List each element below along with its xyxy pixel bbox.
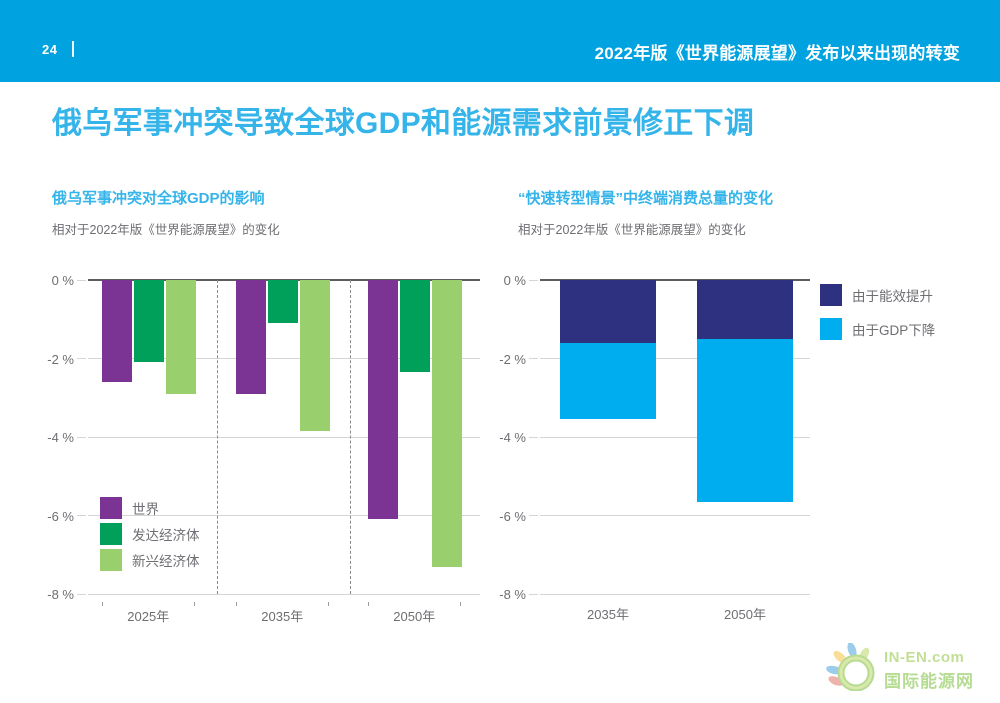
- bar-gdp-impact-0-1: [134, 280, 164, 362]
- page-number: 24: [42, 42, 57, 57]
- y-axis-label--4: -4 %: [480, 431, 526, 444]
- bar-final-consumption-change-1-1: [697, 339, 793, 502]
- x-axis-label-2035年: 2035年: [560, 604, 656, 623]
- watermark-text-en: IN-EN.com: [884, 649, 964, 666]
- legend-item-世界: 世界: [100, 495, 200, 521]
- legend-swatch-由于能效提升: [820, 284, 842, 306]
- y-axis-label--2: -2 %: [28, 353, 74, 366]
- legend-label-新兴经济体: 新兴经济体: [132, 550, 200, 570]
- y-axis-label--8: -8 %: [480, 588, 526, 601]
- legend-item-由于能效提升: 由于能效提升: [820, 278, 935, 312]
- y-axis-tick--6: [77, 515, 86, 516]
- y-axis-label--6: -6 %: [480, 510, 526, 523]
- y-axis-tick--6: [529, 515, 538, 516]
- bar-gdp-impact-2-0: [368, 280, 398, 519]
- group-separator-0: [217, 280, 218, 594]
- legend-item-发达经济体: 发达经济体: [100, 521, 200, 547]
- bar-gdp-impact-1-0: [236, 280, 266, 394]
- bar-gdp-impact-2-1: [400, 280, 430, 372]
- bar-gdp-impact-0-0: [102, 280, 132, 382]
- left-chart-legend: 世界发达经济体新兴经济体: [100, 495, 200, 573]
- y-axis-tick--8: [529, 594, 538, 595]
- legend-swatch-由于GDP下降: [820, 318, 842, 340]
- right-chart-legend: 由于能效提升由于GDP下降: [820, 278, 935, 346]
- bar-gdp-impact-2-2: [432, 280, 462, 567]
- right-chart-subtitle: 相对于2022年版《世界能源展望》的变化: [518, 222, 978, 238]
- header-divider: [72, 41, 74, 57]
- y-axis-label--2: -2 %: [480, 353, 526, 366]
- right-chart-plot: 0 %-2 %-4 %-6 %-8 %2035年2050年由于能效提升由于GDP…: [540, 280, 810, 594]
- watermark-text-cn: 国际能源网: [884, 667, 974, 692]
- legend-swatch-新兴经济体: [100, 549, 122, 571]
- bar-gdp-impact-0-2: [166, 280, 196, 394]
- gridline--6: [540, 515, 810, 516]
- y-axis-tick--2: [529, 358, 538, 359]
- y-axis-label-0: 0 %: [28, 274, 74, 287]
- legend-label-由于能效提升: 由于能效提升: [852, 285, 933, 305]
- legend-label-由于GDP下降: 由于GDP下降: [852, 319, 935, 339]
- watermark-logo: IN-EN.com 国际能源网: [826, 643, 986, 695]
- bar-final-consumption-change-0-0: [560, 280, 656, 343]
- legend-swatch-发达经济体: [100, 523, 122, 545]
- header-title: 2022年版《世界能源展望》发布以来出现的转变: [595, 39, 960, 64]
- x-axis-label-2050年: 2050年: [697, 604, 793, 623]
- gridline--8: [88, 594, 480, 595]
- y-axis-tick-0: [529, 280, 538, 281]
- left-chart-plot: 0 %-2 %-4 %-6 %-8 %2025年2035年2050年世界发达经济…: [88, 280, 480, 594]
- y-axis-tick-0: [77, 280, 86, 281]
- bar-gdp-impact-1-2: [300, 280, 330, 431]
- bar-final-consumption-change-0-1: [560, 343, 656, 420]
- y-axis-tick--4: [77, 437, 86, 438]
- legend-item-由于GDP下降: 由于GDP下降: [820, 312, 935, 346]
- group-separator-1: [350, 280, 351, 594]
- legend-item-新兴经济体: 新兴经济体: [100, 547, 200, 573]
- x-group-label-2025年: 2025年: [102, 606, 196, 625]
- y-axis-tick--2: [77, 358, 86, 359]
- legend-label-发达经济体: 发达经济体: [132, 524, 200, 544]
- left-chart-title: 俄乌军事冲突对全球GDP的影响: [52, 190, 492, 208]
- legend-swatch-世界: [100, 497, 122, 519]
- y-axis-tick--8: [77, 594, 86, 595]
- y-axis-label--8: -8 %: [28, 588, 74, 601]
- gridline--8: [540, 594, 810, 595]
- page-title: 俄乌军事冲突导致全球GDP和能源需求前景修正下调: [52, 98, 754, 142]
- y-axis-label--6: -6 %: [28, 510, 74, 523]
- y-axis-label--4: -4 %: [28, 431, 74, 444]
- y-axis-label-0: 0 %: [480, 274, 526, 287]
- y-axis-tick--4: [529, 437, 538, 438]
- legend-label-世界: 世界: [132, 498, 159, 518]
- gridline--4: [88, 437, 480, 438]
- x-group-label-2050年: 2050年: [368, 606, 462, 625]
- bar-final-consumption-change-1-0: [697, 280, 793, 339]
- bar-gdp-impact-1-1: [268, 280, 298, 323]
- left-chart-subtitle: 相对于2022年版《世界能源展望》的变化: [52, 222, 492, 238]
- x-group-label-2035年: 2035年: [236, 606, 330, 625]
- right-chart-title: “快速转型情景”中终端消费总量的变化: [518, 190, 978, 208]
- sun-leaf-icon: [826, 643, 882, 691]
